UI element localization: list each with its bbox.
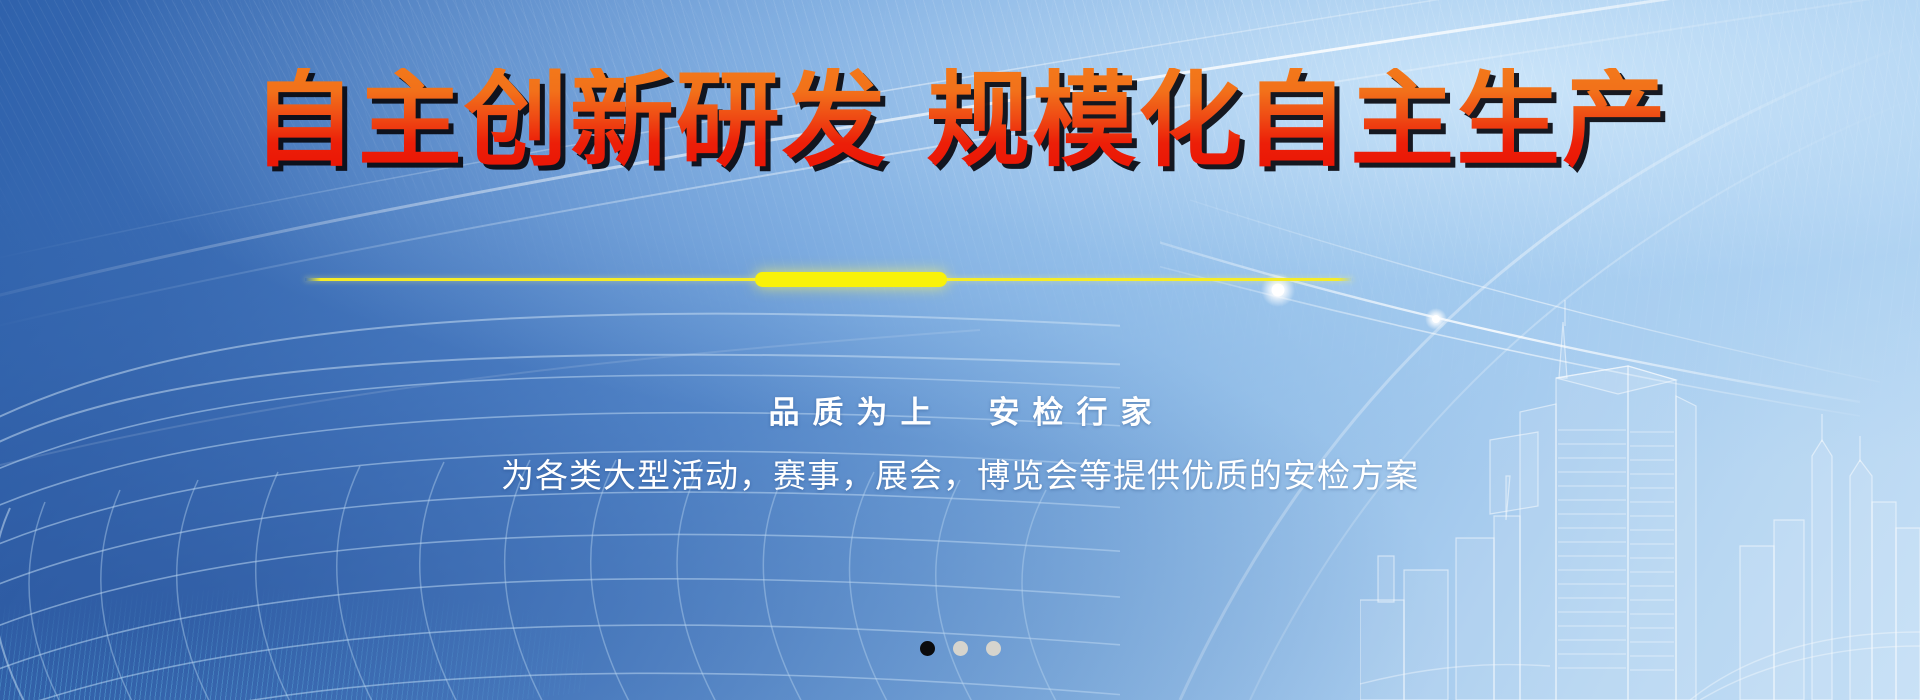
banner-content: 自主创新研发 规模化自主生产 品质为上 安检行家 为各类大型活动，赛事，展会，博… <box>0 0 1920 700</box>
hero-banner: 自主创新研发 规模化自主生产 品质为上 安检行家 为各类大型活动，赛事，展会，博… <box>0 0 1920 700</box>
carousel-dot-3[interactable] <box>986 641 1001 656</box>
tagline: 品质为上 安检行家 <box>0 394 1920 431</box>
carousel-dot-1[interactable] <box>920 641 935 656</box>
page-title: 自主创新研发 规模化自主生产 <box>0 68 1920 172</box>
divider-highlight <box>755 272 947 287</box>
subtitle: 为各类大型活动，赛事，展会，博览会等提供优质的安检方案 <box>0 455 1920 496</box>
carousel-indicators[interactable] <box>0 641 1920 656</box>
carousel-dot-2[interactable] <box>953 641 968 656</box>
